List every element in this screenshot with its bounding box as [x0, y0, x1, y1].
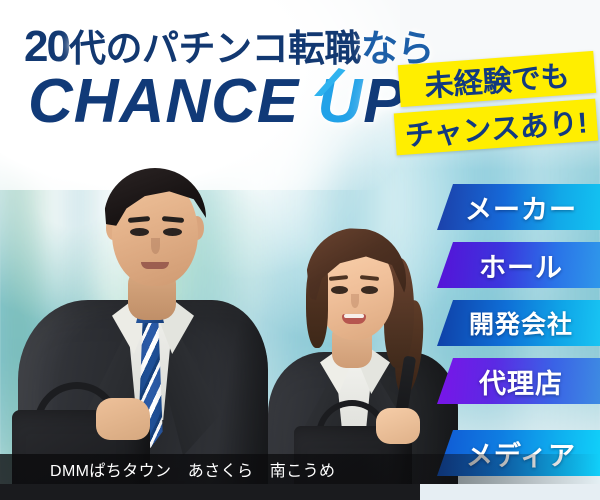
caption-text: DMMぱちタウン あさくら 南こうめ — [0, 457, 335, 481]
man-eye-left — [130, 228, 149, 236]
woman-eye-right — [361, 286, 378, 294]
category-button-hall[interactable]: ホール — [437, 242, 600, 288]
logo-chance-up: CHANCE UP — [28, 66, 406, 137]
logo-letter-u: U — [317, 67, 363, 136]
caption-bar: DMMぱちタウン あさくら 南こうめ — [0, 454, 600, 484]
category-label: メーカー — [465, 188, 577, 227]
woman-hand — [376, 408, 420, 444]
category-button-maker[interactable]: メーカー — [437, 184, 600, 230]
man-mouth — [141, 262, 169, 269]
category-label: 開発会社 — [469, 305, 573, 341]
category-button-developer[interactable]: 開発会社 — [437, 300, 600, 346]
man-nose — [151, 238, 160, 254]
category-label: ホール — [479, 246, 563, 285]
headline-number: 20 — [24, 22, 69, 71]
woman-nose — [351, 294, 359, 308]
man-hand — [96, 398, 150, 440]
category-label: 代理店 — [479, 362, 563, 401]
woman-eye-left — [331, 286, 348, 294]
woman-teeth — [344, 314, 364, 318]
bottom-strip — [0, 484, 600, 500]
banner-ad[interactable]: 20代のパチンコ転職なら CHANCE UP 未経験でも チャンスあり! メーカ… — [0, 0, 600, 500]
headline-main: 代のパチンコ転職 — [69, 28, 361, 69]
category-button-agency[interactable]: 代理店 — [437, 358, 600, 404]
logo-word-chance: CHANCE — [28, 67, 299, 136]
headline: 20代のパチンコ転職なら — [24, 18, 434, 72]
man-eye-right — [163, 228, 182, 236]
